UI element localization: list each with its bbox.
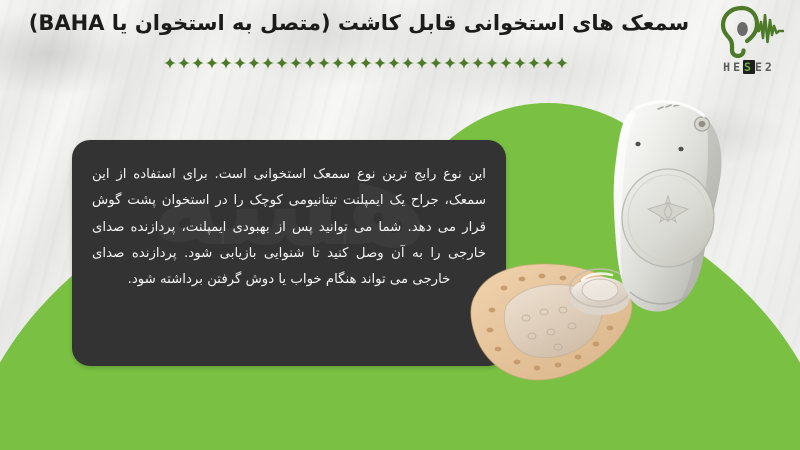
sparkle-icon [191, 57, 204, 70]
decorative-divider [0, 52, 800, 74]
sparkle-icon [177, 57, 190, 70]
sparkle-icon [275, 57, 288, 70]
sparkle-icon [485, 57, 498, 70]
sparkle-icon [359, 57, 372, 70]
sparkle-icon [541, 57, 554, 70]
page-title: سمعک های استخوانی قابل کاشت (متصل به است… [18, 8, 700, 40]
header: سمعک های استخوانی قابل کاشت (متصل به است… [0, 0, 800, 86]
wordmark-left: HE [723, 60, 743, 74]
sparkle-icon [163, 57, 176, 70]
sparkle-icon [387, 57, 400, 70]
sparkle-icon [555, 57, 568, 70]
sparkle-icon [401, 57, 414, 70]
wordmark-right: E2 [755, 60, 775, 74]
wordmark-highlight: S [743, 60, 755, 74]
sparkle-icon [219, 57, 232, 70]
baha-sound-processor [592, 96, 728, 322]
sparkle-icon [429, 57, 442, 70]
sparkle-icon [331, 57, 344, 70]
sparkle-icon [471, 57, 484, 70]
sparkle-icon [233, 57, 246, 70]
description-card: هسه این نوع رایج ترین نوع سمعک استخوانی … [72, 140, 506, 366]
slide-canvas: سمعک های استخوانی قابل کاشت (متصل به است… [0, 0, 800, 450]
sparkle-icon [415, 57, 428, 70]
sparkle-icon [373, 57, 386, 70]
sparkle-icon [205, 57, 218, 70]
ear-waveform-icon [712, 4, 784, 58]
sparkle-icon [443, 57, 456, 70]
sparkle-icon [457, 57, 470, 70]
brand-wordmark: HESE2 [706, 60, 792, 74]
description-text: این نوع رایج ترین نوع سمعک استخوانی است.… [92, 162, 486, 294]
sparkle-icon [303, 57, 316, 70]
sparkle-icon [247, 57, 260, 70]
sparkle-icon [345, 57, 358, 70]
sparkle-icon [499, 57, 512, 70]
sparkle-icon [513, 57, 526, 70]
sparkle-icon [261, 57, 274, 70]
sparkle-icon [527, 57, 540, 70]
brand-logo: HESE2 [706, 4, 792, 84]
sparkle-icon [317, 57, 330, 70]
sparkle-icon [289, 57, 302, 70]
